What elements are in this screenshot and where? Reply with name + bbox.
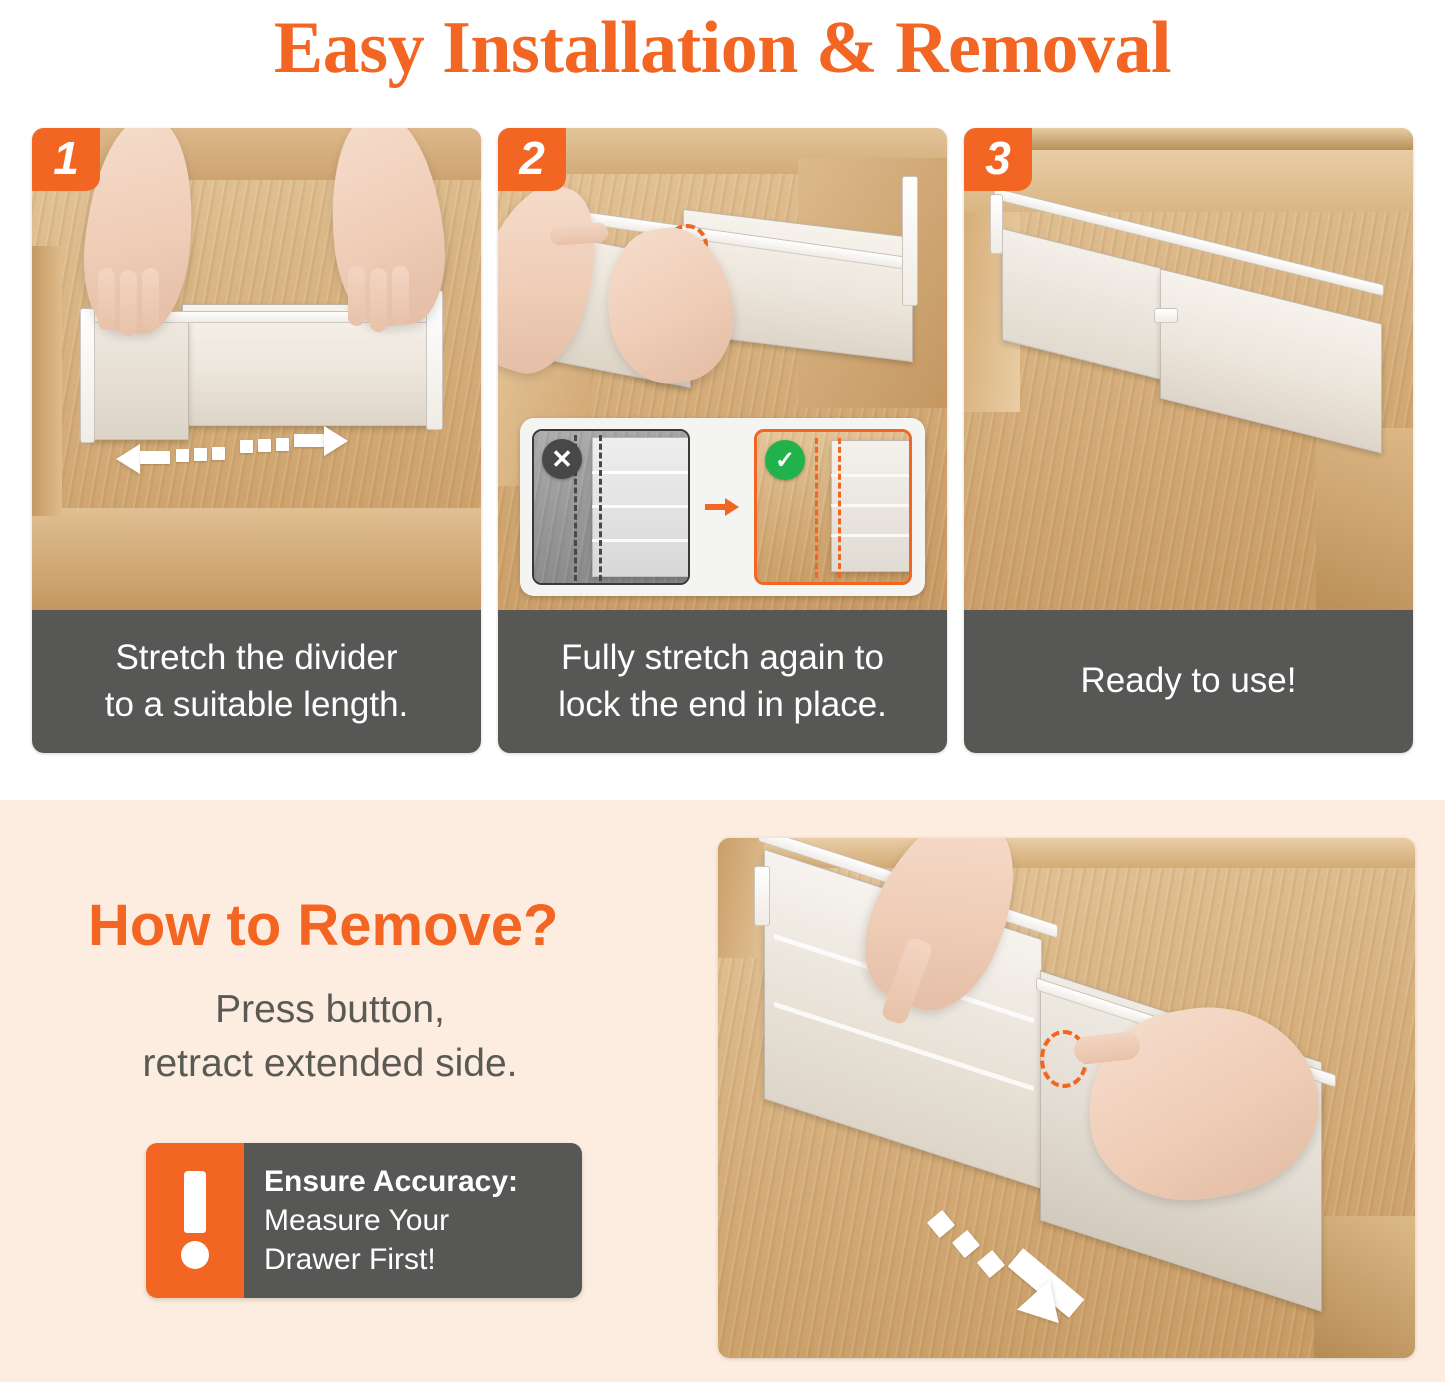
inset-correct-tile: ✓ — [754, 429, 912, 585]
inset-incorrect-tile: ✕ — [532, 429, 690, 585]
finger — [392, 266, 409, 324]
step-caption-1-line2: to a suitable length. — [105, 682, 409, 729]
ensure-accuracy-badge: Ensure Accuracy: Measure Your Drawer Fir… — [146, 1143, 582, 1298]
page-title: Easy Installation & Removal — [0, 0, 1445, 96]
step-caption-2-line2: lock the end in place. — [558, 682, 887, 729]
finger — [142, 268, 159, 330]
step-caption-3: Ready to use! — [964, 610, 1413, 753]
step-caption-3-line1: Ready to use! — [1081, 658, 1297, 705]
ensure-accuracy-line2: Measure Your — [264, 1201, 582, 1240]
how-to-remove-subtext: Press button, retract extended side. — [0, 983, 660, 1091]
how-to-remove-subtext-line1: Press button, — [0, 983, 660, 1037]
drawer-side-right — [1314, 1216, 1415, 1358]
step-caption-1: Stretch the divider to a suitable length… — [32, 610, 481, 753]
right-arrow-icon — [705, 496, 739, 518]
divider-end-cap-left — [990, 194, 1003, 254]
step-caption-2: Fully stretch again to lock the end in p… — [498, 610, 947, 753]
divider-end-cap-right — [902, 176, 918, 306]
step-caption-1-line1: Stretch the divider — [115, 635, 397, 682]
finger — [120, 270, 137, 336]
drawer-side-left — [32, 246, 62, 516]
step-2-photo: ✕ ✓ — [498, 128, 947, 610]
step-caption-2-line1: Fully stretch again to — [561, 635, 884, 682]
divider-end-cap-left — [754, 866, 770, 926]
step-card-2: ✕ ✓ 2 Fully stret — [498, 128, 947, 753]
how-to-remove-photo — [718, 838, 1415, 1358]
divider-latch — [1154, 308, 1178, 323]
step-1-photo — [32, 128, 481, 610]
drawer-side-right — [1316, 428, 1413, 610]
step-badge-3: 3 — [964, 128, 1032, 191]
step-badge-1: 1 — [32, 128, 100, 191]
step-card-3: 3 Ready to use! — [964, 128, 1413, 753]
how-to-remove-subtext-line2: retract extended side. — [0, 1037, 660, 1091]
comparison-inset: ✕ ✓ — [520, 418, 925, 596]
divider-extension-panel — [87, 318, 189, 440]
correct-mark-icon: ✓ — [765, 440, 805, 480]
step-3-photo — [964, 128, 1413, 610]
step-card-1: 1 Stretch the divider to a suitable leng… — [32, 128, 481, 753]
exclamation-icon-panel — [146, 1143, 244, 1298]
ensure-accuracy-line3: Drawer First! — [264, 1240, 582, 1279]
ensure-accuracy-text: Ensure Accuracy: Measure Your Drawer Fir… — [244, 1143, 582, 1298]
incorrect-mark-icon: ✕ — [542, 439, 582, 479]
finger — [98, 268, 115, 330]
inset-transition-arrow — [699, 429, 745, 585]
divider-end-cap-left — [80, 308, 95, 443]
finger — [370, 268, 387, 332]
finger — [549, 222, 608, 246]
how-to-remove-heading: How to Remove? — [88, 892, 559, 959]
finger — [348, 266, 365, 326]
exclamation-icon — [178, 1171, 212, 1271]
step-badge-2: 2 — [498, 128, 566, 191]
installation-steps-row: 1 Stretch the divider to a suitable leng… — [32, 128, 1415, 753]
drawer-front-panel — [32, 508, 481, 610]
ensure-accuracy-title: Ensure Accuracy: — [264, 1162, 582, 1201]
